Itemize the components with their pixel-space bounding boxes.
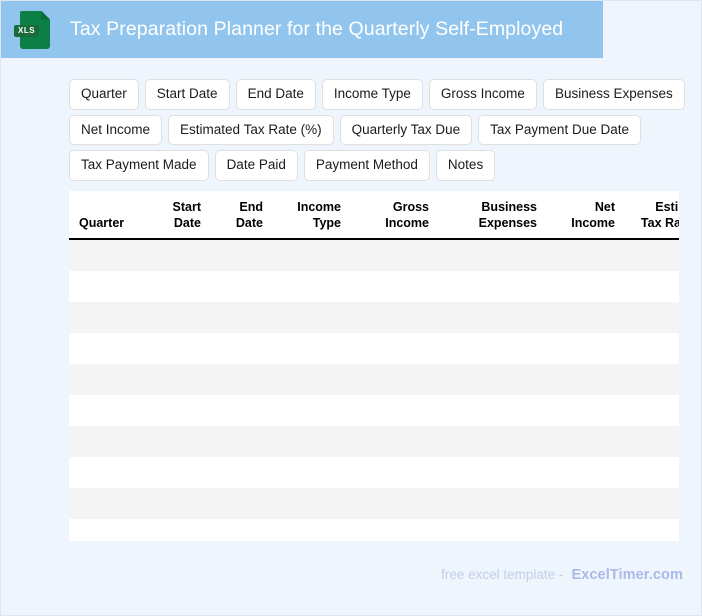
- table-cell[interactable]: [351, 364, 439, 395]
- table-cell[interactable]: [439, 364, 547, 395]
- table-cell[interactable]: [273, 364, 351, 395]
- field-chip-business-expenses[interactable]: Business Expenses: [543, 79, 685, 110]
- table-cell[interactable]: [211, 519, 273, 541]
- table-cell[interactable]: [351, 271, 439, 302]
- field-chip-end-date[interactable]: End Date: [236, 79, 316, 110]
- table-cell[interactable]: [69, 488, 149, 519]
- table-cell[interactable]: [351, 426, 439, 457]
- table-cell[interactable]: [625, 333, 679, 364]
- table-cell[interactable]: [547, 271, 625, 302]
- table-cell[interactable]: [547, 239, 625, 271]
- table-cell[interactable]: [547, 395, 625, 426]
- table-cell[interactable]: [439, 302, 547, 333]
- field-chip-gross-income[interactable]: Gross Income: [429, 79, 537, 110]
- table-cell[interactable]: [211, 302, 273, 333]
- table-cell[interactable]: [273, 271, 351, 302]
- table-cell[interactable]: [273, 488, 351, 519]
- table-cell[interactable]: [625, 395, 679, 426]
- table-cell[interactable]: [69, 426, 149, 457]
- table-cell[interactable]: [625, 457, 679, 488]
- table-cell[interactable]: [69, 395, 149, 426]
- table-cell[interactable]: [351, 302, 439, 333]
- table-cell[interactable]: [351, 519, 439, 541]
- table-cell[interactable]: [625, 519, 679, 541]
- table-cell[interactable]: [439, 333, 547, 364]
- table-header-net-income[interactable]: Net Income: [547, 191, 625, 239]
- table-cell[interactable]: [547, 426, 625, 457]
- table-cell[interactable]: [273, 395, 351, 426]
- table-cell[interactable]: [211, 488, 273, 519]
- page-title: Tax Preparation Planner for the Quarterl…: [70, 18, 563, 41]
- table-body: [69, 239, 679, 541]
- table-cell[interactable]: [547, 333, 625, 364]
- field-chip-quarter[interactable]: Quarter: [69, 79, 139, 110]
- table-cell[interactable]: [351, 239, 439, 271]
- table-cell[interactable]: [149, 426, 211, 457]
- table-row[interactable]: [69, 302, 679, 333]
- table-cell[interactable]: [351, 333, 439, 364]
- table-cell[interactable]: [439, 395, 547, 426]
- table-cell[interactable]: [69, 519, 149, 541]
- planner-table: Quarter Start Date End Date Income Type …: [69, 191, 679, 541]
- table-cell[interactable]: [625, 426, 679, 457]
- field-chip-estimated-tax-rate[interactable]: Estimated Tax Rate (%): [168, 115, 334, 146]
- planner-table-container[interactable]: Quarter Start Date End Date Income Type …: [69, 191, 679, 541]
- table-row[interactable]: [69, 333, 679, 364]
- table-row[interactable]: [69, 364, 679, 395]
- table-header-estimated-tax-rate[interactable]: Estimated Tax Rate (%): [625, 191, 679, 239]
- table-cell[interactable]: [439, 426, 547, 457]
- table-cell[interactable]: [273, 457, 351, 488]
- table-cell[interactable]: [351, 488, 439, 519]
- table-cell[interactable]: [273, 333, 351, 364]
- field-chip-row-1: Quarter Start Date End Date Income Type …: [69, 79, 689, 110]
- field-chip-list: Quarter Start Date End Date Income Type …: [69, 79, 689, 186]
- table-cell[interactable]: [625, 364, 679, 395]
- table-cell[interactable]: [69, 457, 149, 488]
- table-cell[interactable]: [149, 395, 211, 426]
- table-header-gross-income[interactable]: Gross Income: [351, 191, 439, 239]
- table-row[interactable]: [69, 395, 679, 426]
- footer-lead-text: free excel template -: [441, 567, 563, 582]
- table-cell[interactable]: [149, 457, 211, 488]
- table-cell[interactable]: [211, 333, 273, 364]
- table-cell[interactable]: [625, 488, 679, 519]
- table-cell[interactable]: [211, 426, 273, 457]
- table-cell[interactable]: [149, 302, 211, 333]
- table-row[interactable]: [69, 271, 679, 302]
- table-cell[interactable]: [439, 271, 547, 302]
- field-chip-net-income[interactable]: Net Income: [69, 115, 162, 146]
- table-cell[interactable]: [211, 239, 273, 271]
- field-chip-tax-payment-made[interactable]: Tax Payment Made: [69, 150, 209, 181]
- table-header-quarter[interactable]: Quarter: [69, 191, 149, 239]
- field-chip-income-type[interactable]: Income Type: [322, 79, 423, 110]
- table-cell[interactable]: [69, 364, 149, 395]
- field-chip-row-2: Net Income Estimated Tax Rate (%) Quarte…: [69, 115, 689, 146]
- table-cell[interactable]: [351, 457, 439, 488]
- field-chip-row-3: Tax Payment Made Date Paid Payment Metho…: [69, 150, 689, 181]
- field-chip-start-date[interactable]: Start Date: [145, 79, 230, 110]
- table-cell[interactable]: [547, 302, 625, 333]
- table-cell[interactable]: [211, 271, 273, 302]
- table-cell[interactable]: [547, 519, 625, 541]
- field-chip-quarterly-tax-due[interactable]: Quarterly Tax Due: [340, 115, 473, 146]
- header-banner: XLS Tax Preparation Planner for the Quar…: [1, 1, 603, 58]
- field-chip-notes[interactable]: Notes: [436, 150, 495, 181]
- table-row[interactable]: [69, 457, 679, 488]
- table-row[interactable]: [69, 519, 679, 541]
- table-cell[interactable]: [439, 239, 547, 271]
- table-header-start-date[interactable]: Start Date: [149, 191, 211, 239]
- table-cell[interactable]: [149, 519, 211, 541]
- table-cell[interactable]: [273, 239, 351, 271]
- table-cell[interactable]: [149, 271, 211, 302]
- table-cell[interactable]: [149, 333, 211, 364]
- table-cell[interactable]: [149, 239, 211, 271]
- table-row[interactable]: [69, 426, 679, 457]
- field-chip-payment-method[interactable]: Payment Method: [304, 150, 430, 181]
- field-chip-date-paid[interactable]: Date Paid: [215, 150, 298, 181]
- table-row[interactable]: [69, 239, 679, 271]
- footer-brand-link[interactable]: ExcelTimer.com: [571, 567, 683, 583]
- table-cell[interactable]: [69, 333, 149, 364]
- table-row[interactable]: [69, 488, 679, 519]
- field-chip-tax-payment-due-date[interactable]: Tax Payment Due Date: [478, 115, 641, 146]
- table-cell[interactable]: [149, 364, 211, 395]
- table-cell[interactable]: [273, 426, 351, 457]
- footer: free excel template - ExcelTimer.com: [441, 567, 683, 583]
- table-cell[interactable]: [211, 395, 273, 426]
- table-header-row: Quarter Start Date End Date Income Type …: [69, 191, 679, 239]
- table-cell[interactable]: [149, 488, 211, 519]
- table-cell[interactable]: [625, 302, 679, 333]
- table-cell[interactable]: [273, 302, 351, 333]
- table-header-end-date[interactable]: End Date: [211, 191, 273, 239]
- table-cell[interactable]: [547, 488, 625, 519]
- table-cell[interactable]: [547, 364, 625, 395]
- table-cell[interactable]: [69, 302, 149, 333]
- xls-icon-label: XLS: [14, 25, 39, 37]
- table-cell[interactable]: [69, 239, 149, 271]
- table-cell[interactable]: [211, 364, 273, 395]
- table-cell[interactable]: [273, 519, 351, 541]
- xls-file-icon: XLS: [20, 11, 50, 49]
- table-cell[interactable]: [439, 519, 547, 541]
- table-cell[interactable]: [439, 488, 547, 519]
- table-cell[interactable]: [69, 271, 149, 302]
- table-cell[interactable]: [625, 271, 679, 302]
- table-cell[interactable]: [351, 395, 439, 426]
- table-header: Quarter Start Date End Date Income Type …: [69, 191, 679, 239]
- table-cell[interactable]: [625, 239, 679, 271]
- table-cell[interactable]: [547, 457, 625, 488]
- table-cell[interactable]: [211, 457, 273, 488]
- table-cell[interactable]: [439, 457, 547, 488]
- table-header-income-type[interactable]: Income Type: [273, 191, 351, 239]
- table-header-business-expenses[interactable]: Business Expenses: [439, 191, 547, 239]
